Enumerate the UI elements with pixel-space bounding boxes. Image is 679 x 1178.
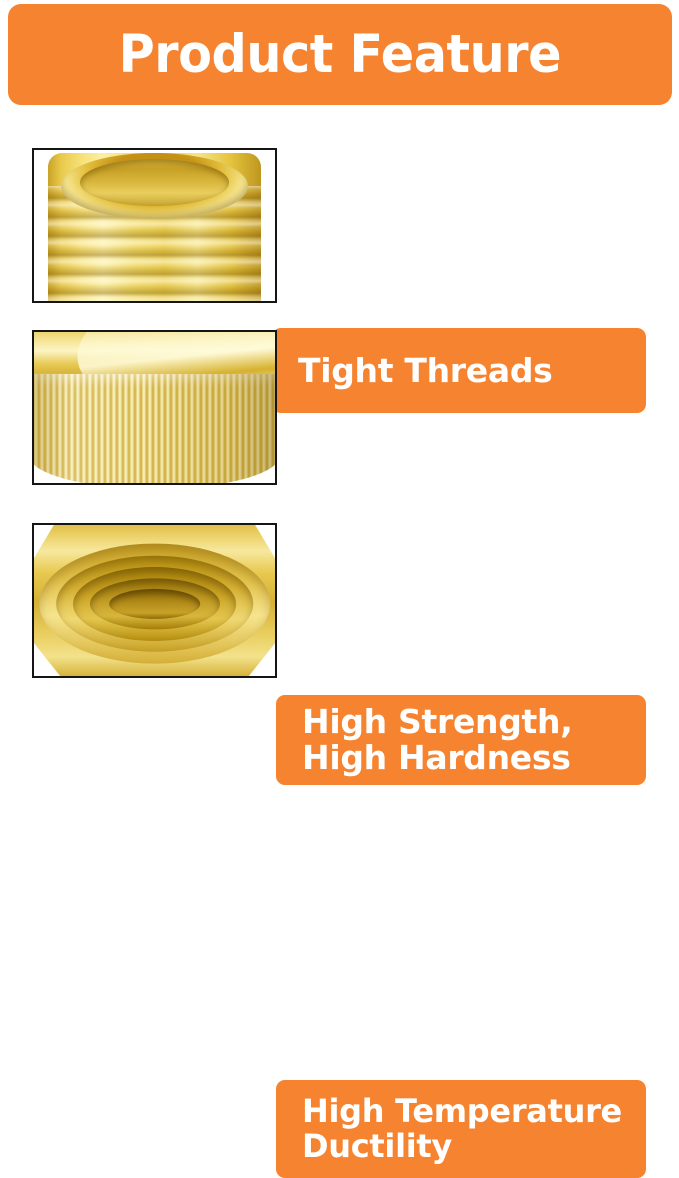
brass-male-threaded-fitting-photo — [34, 150, 275, 301]
feature-label-line: High Hardness — [302, 740, 646, 776]
brass-knurl-shading — [32, 374, 277, 485]
feature-photo-frame — [32, 148, 277, 303]
header-banner: Product Feature — [8, 4, 672, 105]
feature-label-line: High Strength, — [302, 704, 646, 740]
feature-label-plate: High Strength, High Hardness — [276, 695, 646, 785]
feature-label-plate: High Temperature Ductility — [276, 1080, 646, 1178]
feature-row-high-temperature-ductility: High Temperature Ductility — [0, 523, 679, 679]
brass-bore-opening — [80, 159, 229, 206]
brass-knurled-edge-closeup-photo — [34, 332, 275, 483]
brass-thread-ring — [109, 588, 201, 618]
feature-label-line: High Temperature — [302, 1094, 646, 1129]
feature-row-tight-threads: Tight Threads — [0, 148, 679, 304]
feature-row-high-strength-high-hardness: High Strength, High Hardness — [0, 330, 679, 486]
feature-photo-frame — [32, 523, 277, 678]
feature-label-line: Ductility — [302, 1129, 646, 1164]
page-title: Product Feature — [119, 28, 561, 81]
feature-photo-frame — [32, 330, 277, 485]
brass-female-threaded-bore-photo — [34, 525, 275, 676]
